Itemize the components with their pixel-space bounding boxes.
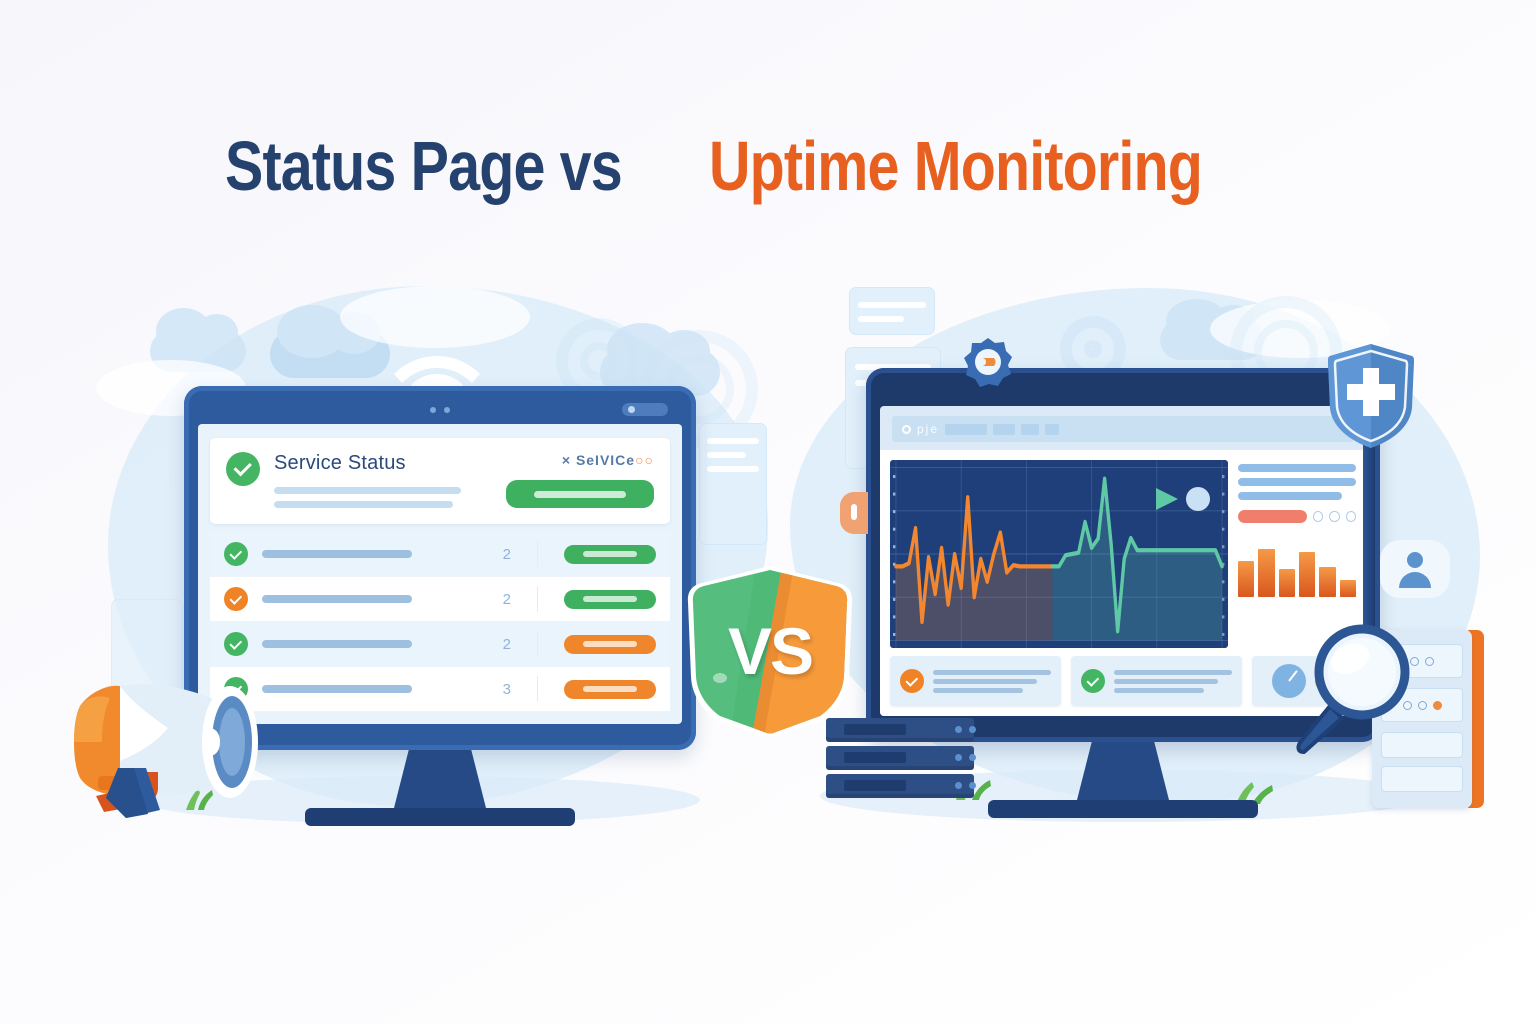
row-divider [537,631,538,657]
rack-slot [1381,766,1463,792]
side-bar-chart[interactable] [1238,539,1356,597]
play-marker-icon [1154,486,1212,512]
status-ring-icon [1313,511,1323,522]
bar-chart-bar [1258,549,1274,597]
service-name-bar [262,550,412,558]
placeholder-bar [274,487,461,494]
table-row[interactable]: 2 [210,532,670,577]
subscribe-button[interactable] [506,480,654,508]
megaphone-icon [62,628,312,818]
status-badge-label [583,596,636,602]
status-badge [564,680,656,699]
card-text-lines [933,670,1051,693]
row-count: 2 [503,546,523,563]
check-circle-icon [226,452,260,486]
page-title-part1: Status Page vs [225,126,622,206]
monitor-base-right [988,800,1258,818]
row-divider [537,541,538,567]
status-badge [564,590,656,609]
page-title: Status Page vs Uptime Monitoring [0,126,1536,206]
brand-suffix: ○○ [635,452,654,468]
side-text-bar [1238,478,1356,486]
vs-badge: VS [686,566,854,736]
alert-bar [1238,510,1307,523]
side-text-bar [1238,492,1342,500]
side-text-bar [1238,464,1356,472]
url-segment [1021,424,1039,435]
globe-icon [902,425,911,434]
status-page-heading: Service Status [274,452,492,475]
brand-name: SeIVICe [576,452,635,468]
status-ring-icon [1329,511,1339,522]
lock-icon [840,492,868,534]
check-circle-icon [224,542,248,566]
bar-chart-bar [1340,580,1356,597]
dashboard-side-panel [1238,460,1356,648]
monitor-base-left [305,808,575,826]
page-title-part2: Uptime Monitoring [709,126,1202,206]
server-unit [826,774,974,798]
dashboard-body [880,450,1366,648]
monitor-neck-left [394,750,486,808]
status-ring-icon [1346,511,1356,522]
background-softcloud-1 [340,286,530,348]
row-count: 2 [503,591,523,608]
status-badge [564,545,656,564]
response-time-chart[interactable] [890,460,1228,648]
status-page-header-card: Service Status × SeIVICe○○ [210,438,670,524]
card-text-lines [1114,670,1232,693]
background-document-1 [850,288,934,334]
placeholder-bar [274,501,453,508]
shield-cross-icon [1326,342,1416,450]
row-count: 2 [503,636,523,653]
gear-badge-icon [962,336,1014,388]
browser-url-bar[interactable]: pje [892,416,1354,442]
check-circle-icon [1081,669,1105,693]
monitor-topbar-left [198,402,682,418]
bar-chart-bar [1299,552,1315,597]
monitor-topbar-right [880,384,1366,400]
subscribe-button-label [534,491,626,498]
status-badge [564,635,656,654]
status-card[interactable] [890,656,1061,706]
url-segment [993,424,1015,435]
url-text: pje [917,422,939,436]
status-card[interactable] [1071,656,1242,706]
check-circle-icon [224,587,248,611]
bar-chart-bar [1319,567,1335,597]
user-icon [1380,540,1450,598]
brand-prefix: × [562,452,576,468]
check-circle-icon [900,669,924,693]
status-badge-label [583,641,636,647]
status-badge-label [583,686,636,692]
magnifying-glass-icon [1286,622,1416,754]
monitor-neck-right [1077,742,1169,800]
url-segment [945,424,987,435]
side-metric-row [1238,510,1356,523]
status-badge-label [583,551,636,557]
vs-badge-label: VS [686,566,854,736]
monitor-camera [622,403,668,416]
row-divider [537,676,538,702]
row-divider [537,586,538,612]
monitor-indicator-dots [430,407,450,413]
service-name-bar [262,595,412,603]
server-unit [826,746,974,770]
bar-chart-bar [1279,569,1295,597]
url-segment [1045,424,1059,435]
background-document-3 [700,424,766,544]
status-page-brand: × SeIVICe○○ [506,452,654,468]
table-row[interactable]: 2 [210,577,670,622]
bar-chart-bar [1238,561,1254,597]
row-count: 3 [503,681,523,698]
